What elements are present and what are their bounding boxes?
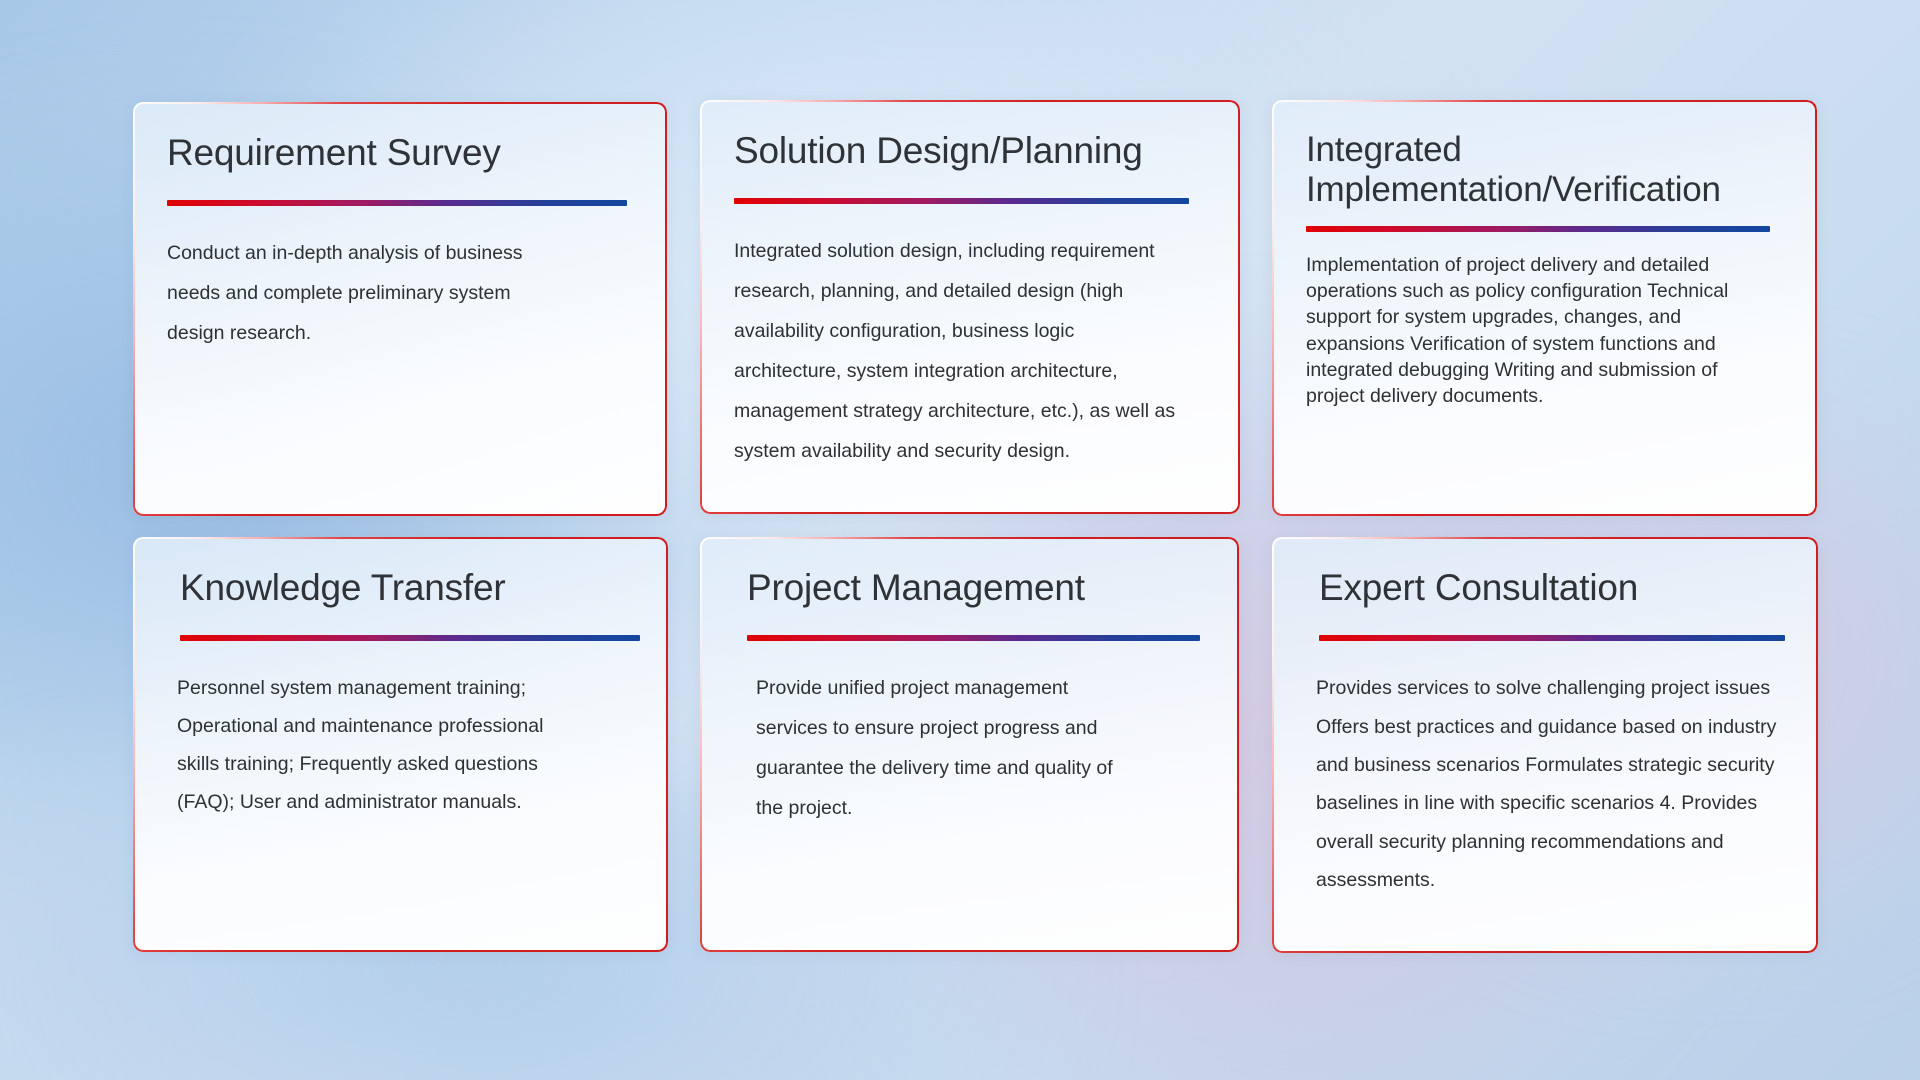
card-title: Solution Design/Planning [734,130,1206,172]
card-divider [747,635,1200,641]
card-knowledge-transfer[interactable]: Knowledge Transfer Personnel system mana… [133,537,668,952]
card-title: Project Management [734,567,1205,609]
card-divider [167,200,627,206]
card-project-management[interactable]: Project Management Provide unified proje… [700,537,1239,952]
card-divider [1319,635,1785,641]
card-title: Requirement Survey [167,132,633,174]
service-card-grid: Requirement Survey Conduct an in-depth a… [0,0,1920,1080]
card-title: Integrated Implementation/Verification [1306,130,1776,210]
card-title: Knowledge Transfer [167,567,634,609]
card-body: Provides services to solve challenging p… [1306,669,1784,899]
card-title: Expert Consultation [1306,567,1784,609]
card-body: Integrated solution design, including re… [734,232,1184,472]
card-body: Implementation of project delivery and d… [1306,252,1766,410]
card-divider [1306,226,1770,232]
card-divider [180,635,640,641]
card-integrated-implementation-verification[interactable]: Integrated Implementation/Verification I… [1272,100,1817,516]
card-body: Personnel system management training; Op… [167,669,591,821]
card-requirement-survey[interactable]: Requirement Survey Conduct an in-depth a… [133,102,667,516]
card-divider [734,198,1189,204]
card-body: Conduct an in-depth analysis of business… [167,234,567,354]
card-solution-design-planning[interactable]: Solution Design/Planning Integrated solu… [700,100,1240,514]
card-expert-consultation[interactable]: Expert Consultation Provides services to… [1272,537,1818,953]
card-body: Provide unified project management servi… [734,669,1124,829]
